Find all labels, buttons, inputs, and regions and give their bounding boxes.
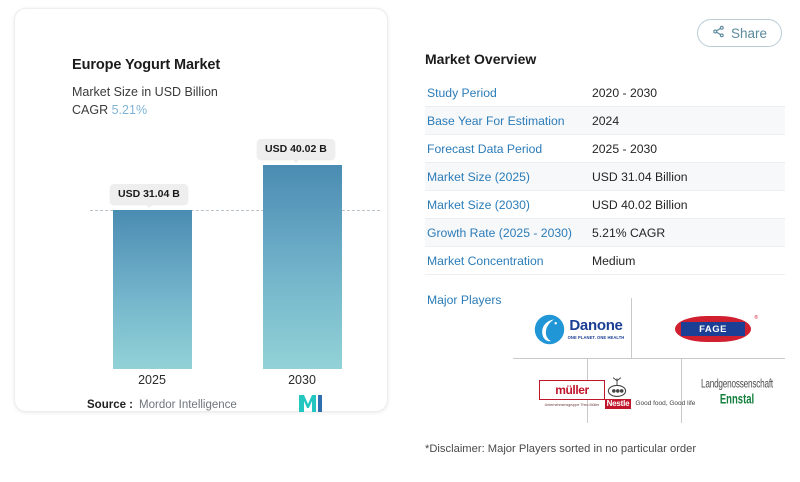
disclaimer-text: *Disclaimer: Major Players sorted in no … [425,443,696,455]
row-value: Medium [592,254,635,268]
share-button[interactable]: Share [697,19,782,47]
data-label-2030: USD 40.02 B [257,139,335,159]
table-row: Market Size (2025) USD 31.04 Billion [425,163,785,191]
x-tick-2030: 2030 [262,373,342,387]
table-row: Growth Rate (2025 - 2030) 5.21% CAGR [425,219,785,247]
source-value: Mordor Intelligence [139,399,237,411]
market-overview-table: Study Period 2020 - 2030 Base Year For E… [425,79,785,275]
major-players-label: Major Players [427,293,502,307]
source-row: Source : Mordor Intelligence [87,399,237,411]
nestle-wordmark: Nestle [605,399,632,409]
ennstal-wordmark: Ennstal [720,391,754,408]
mordor-intelligence-logo [299,395,322,417]
x-tick-2025: 2025 [112,373,192,387]
row-key: Market Size (2030) [425,198,592,212]
chart-subtitle: Market Size in USD Billion [72,85,218,99]
row-value: USD 31.04 Billion [592,170,688,184]
row-key: Market Concentration [425,254,592,268]
table-row: Study Period 2020 - 2030 [425,79,785,107]
muller-tagline: Unternehmensgruppe Theo Müller [545,403,600,408]
danone-mark-icon [534,314,565,345]
danone-tagline: ONE PLANET. ONE HEALTH [568,335,625,340]
bar-2030[interactable] [263,165,342,369]
row-key: Market Size (2025) [425,170,592,184]
row-value: USD 40.02 Billion [592,198,688,212]
bar-chart-plot: USD 31.04 B USD 40.02 B 2025 2030 [75,129,395,369]
row-key: Base Year For Estimation [425,114,592,128]
row-key: Growth Rate (2025 - 2030) [425,226,592,240]
nestle-tagline: Good food, Good life [635,400,695,407]
row-key: Study Period [425,86,592,100]
row-value: 2025 - 2030 [592,142,657,156]
table-row: Base Year For Estimation 2024 [425,107,785,135]
chart-title: Europe Yogurt Market [72,57,220,73]
cagr-value: 5.21% [112,103,147,117]
nestle-nest-icon [605,376,629,398]
table-row: Market Concentration Medium [425,247,785,275]
major-players-logos: Danone ONE PLANET. ONE HEALTH FAGE ® mül… [513,298,785,423]
cagr-prefix: CAGR [72,103,108,117]
data-label-2025: USD 31.04 B [110,184,188,204]
muller-wordmark: müller [555,384,589,396]
logo-fage: FAGE ® [658,308,768,350]
danone-wordmark: Danone [569,318,622,333]
bar-2025[interactable] [113,210,192,369]
market-overview-title: Market Overview [425,51,536,67]
landgenossenschaft-wordmark: Landgenossenschaft [701,377,773,391]
row-value: 2020 - 2030 [592,86,657,100]
logo-landgenossenschaft-ennstal: Landgenossenschaft Ennstal [689,368,785,416]
source-label: Source : [87,399,133,411]
row-value: 5.21% CAGR [592,226,665,240]
row-value: 2024 [592,114,619,128]
registered-trademark-icon: ® [754,315,758,321]
grid-divider-center-top [587,358,682,359]
share-nodes-icon [712,25,725,41]
share-button-label: Share [731,26,767,41]
row-key: Forecast Data Period [425,142,592,156]
fage-wordmark: FAGE [681,322,745,336]
chart-cagr: CAGR 5.21% [72,103,147,117]
table-row: Forecast Data Period 2025 - 2030 [425,135,785,163]
table-row: Market Size (2030) USD 40.02 Billion [425,191,785,219]
market-snapshot-page: Share Europe Yogurt Market Market Size i… [0,0,800,482]
chart-card: Europe Yogurt Market Market Size in USD … [14,8,388,412]
logo-danone: Danone ONE PLANET. ONE HEALTH [517,306,641,352]
